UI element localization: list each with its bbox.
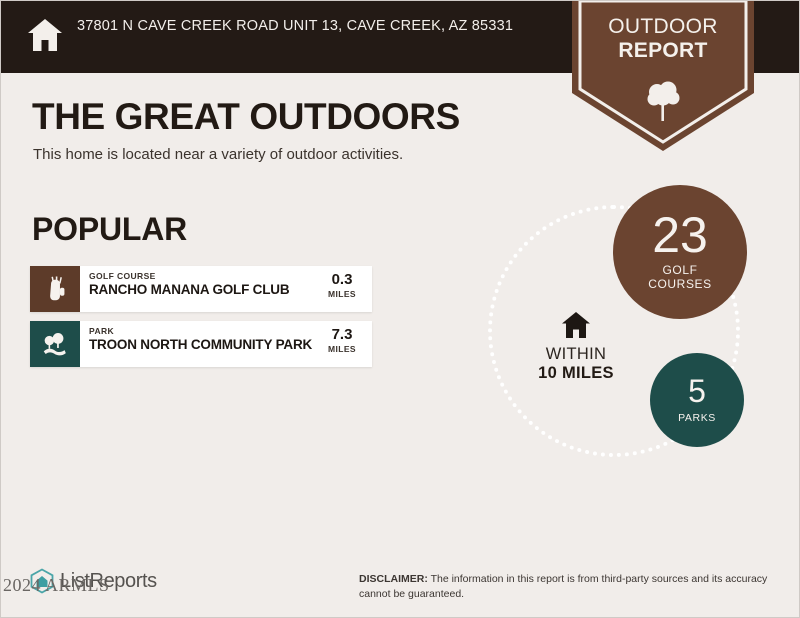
radius-center-label: WITHIN 10 MILES: [506, 311, 646, 383]
distance-unit: MILES: [318, 344, 366, 354]
stat-parks: 5 PARKS: [650, 353, 744, 447]
disclaimer: DISCLAIMER: The information in this repo…: [359, 572, 783, 602]
home-icon: [27, 18, 63, 52]
page-subtitle: This home is located near a variety of o…: [33, 146, 403, 163]
stat-label-line2: COURSES: [648, 278, 712, 292]
property-address: 37801 N CAVE CREEK ROAD UNIT 13, CAVE CR…: [77, 15, 513, 37]
badge-title: OUTDOOR REPORT: [572, 15, 754, 62]
popular-places-list: GOLF COURSE RANCHO MANANA GOLF CLUB 0.3 …: [30, 266, 372, 376]
mls-watermark: 2024 ARMLS: [3, 575, 110, 596]
section-title-popular: POPULAR: [32, 211, 187, 248]
header-content: 37801 N CAVE CREEK ROAD UNIT 13, CAVE CR…: [27, 15, 547, 52]
stat-label: PARKS: [678, 412, 716, 424]
tree-icon: [646, 80, 680, 122]
list-item-name: TROON NORTH COMMUNITY PARK: [89, 336, 314, 354]
distance-value: 0.3: [318, 272, 366, 289]
outdoor-report-page: 37801 N CAVE CREEK ROAD UNIT 13, CAVE CR…: [0, 0, 800, 618]
list-item-text: GOLF COURSE RANCHO MANANA GOLF CLUB: [80, 266, 318, 312]
list-item-distance: 0.3 MILES: [318, 266, 372, 312]
stat-label-line1: PARKS: [678, 412, 716, 424]
radius-line1: WITHIN: [506, 345, 646, 364]
list-item-text: PARK TROON NORTH COMMUNITY PARK: [80, 321, 318, 367]
list-item-category: GOLF COURSE: [89, 272, 314, 281]
list-item-name: RANCHO MANANA GOLF CLUB: [89, 281, 314, 299]
badge-title-line2: REPORT: [572, 39, 754, 63]
list-item-category: PARK: [89, 327, 314, 336]
home-icon: [561, 311, 591, 339]
golf-bag-icon: [30, 266, 80, 312]
list-item[interactable]: GOLF COURSE RANCHO MANANA GOLF CLUB 0.3 …: [30, 266, 372, 312]
list-item[interactable]: PARK TROON NORTH COMMUNITY PARK 7.3 MILE…: [30, 321, 372, 367]
outdoor-report-badge: OUTDOOR REPORT: [572, 0, 754, 151]
distance-unit: MILES: [318, 289, 366, 299]
page-title: THE GREAT OUTDOORS: [32, 96, 460, 138]
radius-line2: 10 MILES: [506, 364, 646, 383]
distance-value: 7.3: [318, 327, 366, 344]
stat-value: 5: [688, 376, 706, 406]
stat-label-line1: GOLF: [648, 264, 712, 278]
badge-title-line1: OUTDOOR: [572, 15, 754, 39]
stat-value: 23: [652, 212, 708, 260]
park-trees-icon: [30, 321, 80, 367]
list-item-distance: 7.3 MILES: [318, 321, 372, 367]
stat-label: GOLF COURSES: [648, 264, 712, 292]
stat-golf-courses: 23 GOLF COURSES: [613, 185, 747, 319]
disclaimer-label: DISCLAIMER:: [359, 573, 428, 585]
